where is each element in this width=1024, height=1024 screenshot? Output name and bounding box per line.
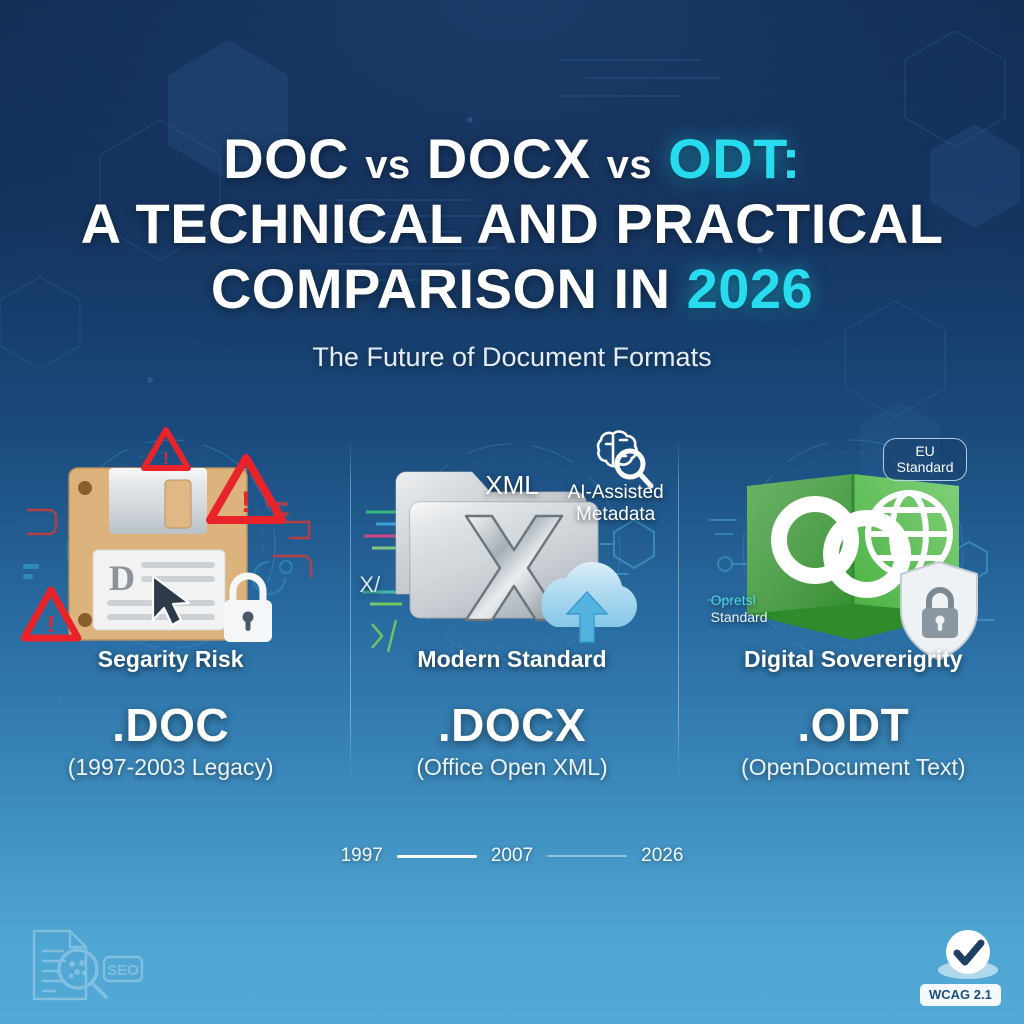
eu-standard-badge: EU Standard xyxy=(883,438,968,481)
column-odt[interactable]: EU Standard Opretsl Standard Digital Sov… xyxy=(683,424,1024,784)
page-title-line-1: DOC vs DOCX vs ODT: xyxy=(0,131,1024,187)
svg-text:D: D xyxy=(109,558,135,598)
timeline-year-2026: 2026 xyxy=(641,845,683,867)
format-subtitle-docx: (Office Open XML) xyxy=(341,754,682,781)
floppy-disk-icon: D xyxy=(0,424,341,664)
timeline-year-1997: 1997 xyxy=(341,845,383,867)
wcag-badge: WCAG 2.1 xyxy=(926,926,1010,991)
format-subtitle-odt: (OpenDocument Text) xyxy=(683,754,1024,781)
timeline-year-2007: 2007 xyxy=(491,845,533,867)
svg-text:!: ! xyxy=(163,449,169,468)
label-open-line2: Standard xyxy=(711,609,768,625)
label-open-line1: Opretsl xyxy=(711,592,756,608)
folder-x-icon xyxy=(341,424,682,664)
page-subtitle: The Future of Document Formats xyxy=(0,342,1024,373)
column-doc[interactable]: D xyxy=(0,424,341,784)
header: DOC vs DOCX vs ODT: A TECHNICAL AND PRAC… xyxy=(0,131,1024,373)
infographic-canvas: DOC vs DOCX vs ODT: A TECHNICAL AND PRAC… xyxy=(0,0,1024,1024)
page-title-line-3: COMPARISON IN 2026 xyxy=(0,261,1024,317)
label-ai-assisted-metadata: AI-Assisted Metadata xyxy=(557,482,675,527)
eu-badge-line2: Standard xyxy=(897,459,954,475)
label-open-standard: Opretsl Standard xyxy=(711,592,768,625)
column-docx[interactable]: XML AI-Assisted Metadata X/ Modern Stand… xyxy=(341,424,682,784)
format-name-doc: .DOC xyxy=(0,698,341,752)
title-docx: DOCX xyxy=(427,127,591,190)
page-title-line-2: A TECHNICAL AND PRACTICAL xyxy=(0,196,1024,252)
timeline-segment-faint xyxy=(547,855,627,857)
tagline-doc: Segarity Risk xyxy=(0,646,341,673)
timeline-segment-solid xyxy=(397,855,477,858)
title-odt: ODT: xyxy=(668,127,801,190)
format-comparison-columns: D xyxy=(0,424,1024,784)
lock-icon xyxy=(224,576,272,642)
label-code-fragment: X/ xyxy=(359,572,380,598)
svg-text:!: ! xyxy=(47,611,55,637)
tagline-odt: Digital Sovererigrity xyxy=(683,646,1024,673)
tagline-docx: Modern Standard xyxy=(341,646,682,673)
seo-badge: SEO xyxy=(26,925,144,1010)
wcag-badge-label: WCAG 2.1 xyxy=(920,984,1001,1006)
label-ai-line1: AI-Assisted xyxy=(568,482,664,503)
svg-text:!: ! xyxy=(241,486,251,519)
title-vs-1: vs xyxy=(365,143,411,187)
label-ai-line2: Metadata xyxy=(576,504,655,525)
open-book-icon xyxy=(683,424,1024,664)
title-doc: DOC xyxy=(223,127,349,190)
eu-badge-line1: EU xyxy=(915,443,934,459)
format-subtitle-doc: (1997-2003 Legacy) xyxy=(0,754,341,781)
seo-badge-label: SEO xyxy=(107,962,139,979)
title-vs-2: vs xyxy=(607,143,653,187)
format-name-docx: .DOCX xyxy=(341,698,682,752)
format-timeline: 1997 2007 2026 xyxy=(0,845,1024,867)
title-comparison: COMPARISON IN xyxy=(211,257,671,320)
format-name-odt: .ODT xyxy=(683,698,1024,752)
title-year: 2026 xyxy=(687,257,814,320)
